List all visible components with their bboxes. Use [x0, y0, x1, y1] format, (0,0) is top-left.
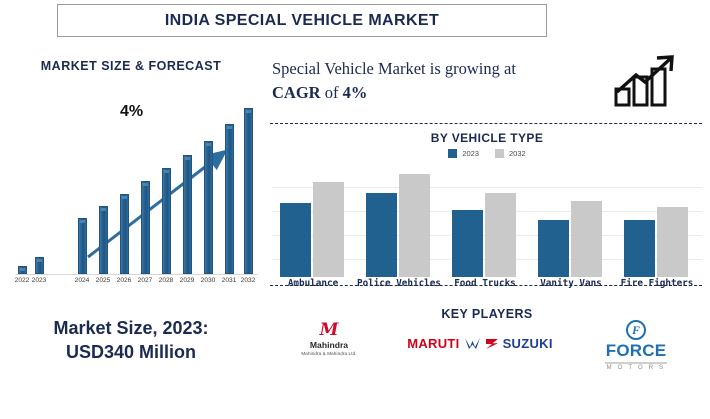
left-chart-year-labels: 2022202320242025202620272028202920302031… [8, 277, 258, 291]
mahindra-subtitle: Mahindra & Mahindra Ltd. [286, 351, 372, 356]
vehicle-type-bar [452, 210, 483, 277]
vehicle-type-bar [624, 220, 655, 277]
logo-maruti-suzuki: MARUTI SUZUKI [390, 336, 570, 351]
force-f-mark-icon: F [626, 320, 646, 340]
vehicle-type-bar [366, 193, 397, 277]
maruti-bird-icon [464, 337, 481, 351]
market-size-line-2: USD340 Million [0, 340, 262, 364]
left-chart-year-label: 2022 [15, 277, 30, 284]
legend-swatch [448, 149, 457, 158]
page-title: INDIA SPECIAL VEHICLE MARKET [165, 12, 439, 30]
force-subtitle: M O T O R S [586, 365, 686, 371]
left-chart-year-label: 2031 [222, 277, 237, 284]
vehicle-type-bar [280, 203, 311, 277]
headline-line-1: Special Vehicle Market is growing at [272, 59, 516, 78]
vehicle-type-category-label: Food Trucks [454, 278, 516, 289]
legend-label: 2032 [509, 149, 526, 158]
left-chart-bar [78, 218, 87, 274]
vehicle-type-bar [657, 207, 688, 277]
vehicle-type-category-label: Police Vehicles [357, 278, 441, 289]
logo-force-motors: F FORCE M O T O R S [586, 320, 686, 371]
by-vehicle-type-chart [272, 167, 702, 277]
headline-cagr-word: CAGR [272, 83, 321, 102]
market-size-line-1: Market Size, 2023: [0, 316, 262, 340]
force-name: FORCE [586, 341, 686, 361]
logo-mahindra: M Mahindra Mahindra & Mahindra Ltd. [286, 322, 372, 356]
vehicle-type-category-label: Vanity Vans [540, 278, 602, 289]
legend-item[interactable]: 2023 [448, 149, 479, 158]
left-chart-year-label: 2028 [159, 277, 174, 284]
suzuki-word: SUZUKI [503, 336, 553, 351]
market-size-forecast-heading: MARKET SIZE & FORECAST [0, 59, 262, 73]
divider-top [270, 123, 702, 124]
force-rule [605, 362, 667, 364]
headline-of-word: of [321, 83, 343, 102]
suzuki-s-icon [485, 337, 499, 351]
left-chart-bar [120, 194, 129, 274]
vehicle-type-category-label: Ambulance [288, 278, 338, 289]
left-chart-bar [162, 168, 171, 274]
left-chart-bar [183, 155, 192, 274]
left-chart-year-label: 2029 [180, 277, 195, 284]
market-size-callout: Market Size, 2023: USD340 Million [0, 316, 262, 365]
left-chart-year-label: 2027 [138, 277, 153, 284]
left-chart-bar [99, 206, 108, 274]
legend-swatch [495, 149, 504, 158]
left-chart-bar [244, 108, 253, 274]
key-players-logos: M Mahindra Mahindra & Mahindra Ltd. MARU… [264, 322, 710, 374]
left-chart-bar [35, 257, 44, 274]
right-panel: Special Vehicle Market is growing at CAG… [264, 45, 710, 305]
headline-cagr-value: 4% [343, 83, 368, 102]
vehicle-type-category-label: Fire Fighters [621, 278, 694, 289]
market-size-forecast-panel: MARKET SIZE & FORECAST 4% 20222023202420… [0, 45, 262, 305]
left-chart-bar [18, 266, 27, 274]
left-chart-year-label: 2032 [241, 277, 256, 284]
left-chart-cagr-label: 4% [120, 103, 143, 121]
left-chart-year-label: 2024 [75, 277, 90, 284]
vehicle-type-bar [485, 193, 516, 277]
vehicle-type-bar [399, 174, 430, 277]
left-chart-bar [225, 124, 234, 274]
key-players-heading: KEY PLAYERS [264, 307, 710, 321]
left-chart-axis [16, 274, 258, 275]
growth-bar-chart-icon [612, 53, 684, 109]
maruti-word: MARUTI [407, 336, 459, 351]
vehicle-type-bar [538, 220, 569, 277]
vehicle-type-bar [571, 201, 602, 277]
divider-bottom [270, 285, 702, 286]
legend-item[interactable]: 2032 [495, 149, 526, 158]
infographic-root: INDIA SPECIAL VEHICLE MARKET MARKET SIZE… [0, 0, 710, 419]
cagr-headline: Special Vehicle Market is growing at CAG… [272, 57, 612, 105]
legend-label: 2023 [462, 149, 479, 158]
left-chart-bar [204, 141, 213, 274]
by-vehicle-type-legend: 20232032 [264, 149, 710, 158]
mahindra-name: Mahindra [286, 340, 372, 350]
title-box: INDIA SPECIAL VEHICLE MARKET [57, 4, 547, 37]
left-chart-bar [141, 181, 150, 274]
left-chart-year-label: 2023 [32, 277, 47, 284]
left-chart-year-label: 2030 [201, 277, 216, 284]
left-chart-year-label: 2025 [96, 277, 111, 284]
vehicle-type-bar [313, 182, 344, 277]
mahindra-mark-icon: M [286, 322, 372, 339]
left-chart-year-label: 2026 [117, 277, 132, 284]
by-vehicle-type-heading: BY VEHICLE TYPE [264, 131, 710, 145]
